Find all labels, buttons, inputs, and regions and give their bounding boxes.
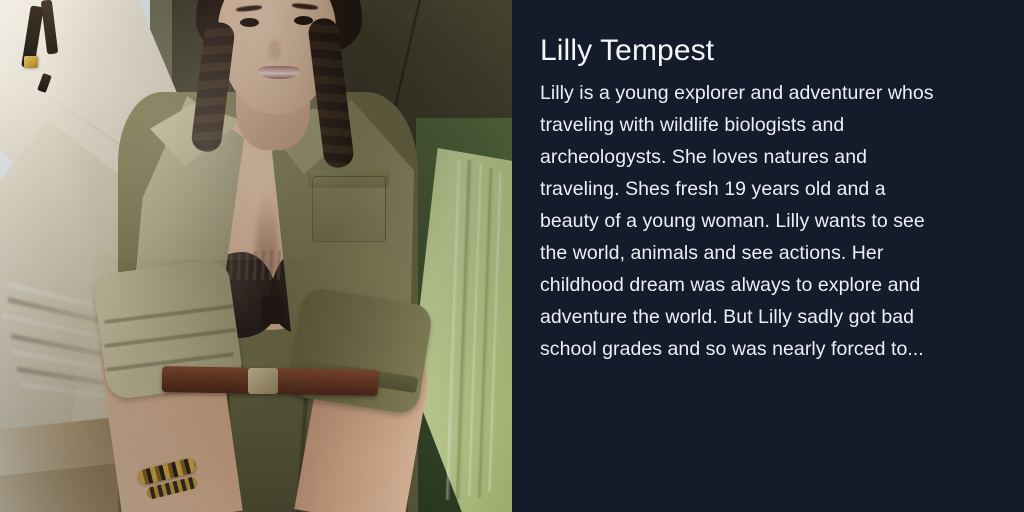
- rolled-sleeve-right: [288, 287, 434, 416]
- character-info-panel: Lilly Tempest Lilly is a young explorer …: [512, 0, 1024, 512]
- eye-left: [240, 18, 259, 27]
- shirt-pocket: [312, 176, 386, 242]
- character-portrait-image: [0, 0, 512, 512]
- belt-buckle: [248, 368, 278, 394]
- lace-bra-center: [262, 296, 282, 324]
- character-description: Lilly is a young explorer and adventurer…: [540, 77, 944, 365]
- character-card: Lilly Tempest Lilly is a young explorer …: [0, 0, 1024, 512]
- brass-buckle: [24, 56, 38, 68]
- nose: [268, 40, 281, 60]
- character-name: Lilly Tempest: [540, 32, 996, 70]
